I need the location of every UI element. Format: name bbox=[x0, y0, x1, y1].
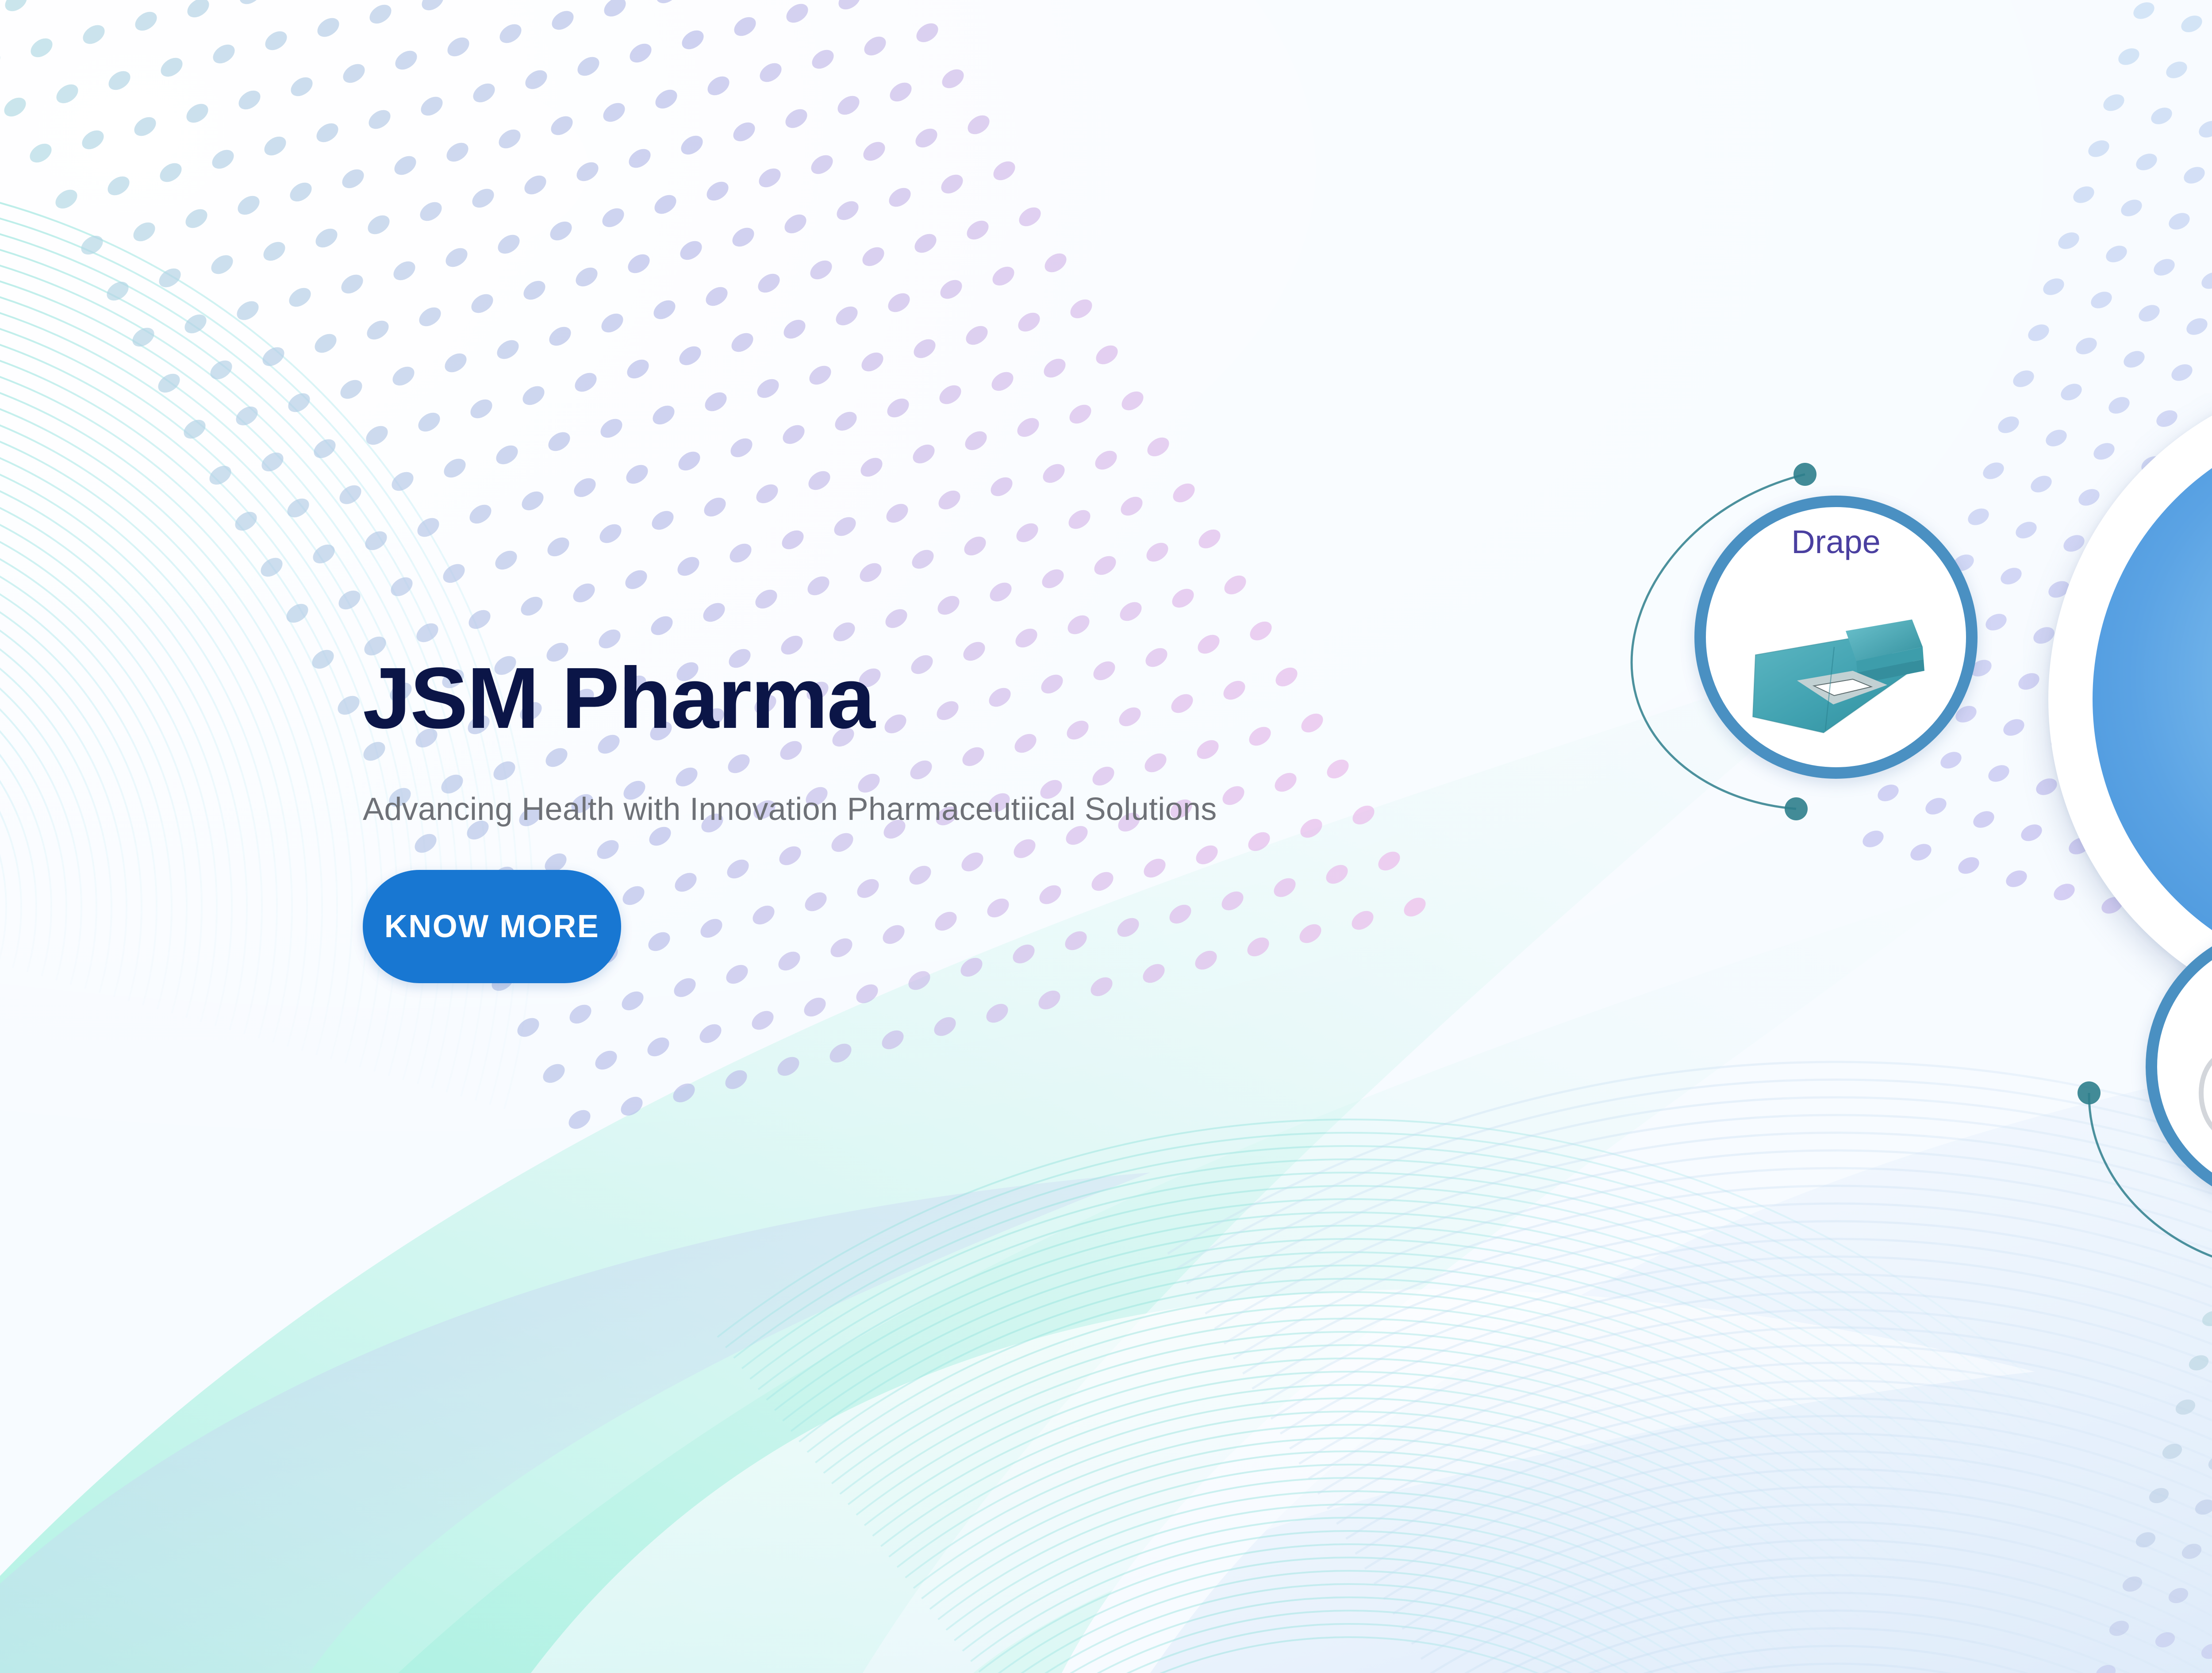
product-label-drape: Drape bbox=[1694, 523, 1978, 561]
hero-subtitle: Advancing Health with Innovation Pharmac… bbox=[363, 791, 1513, 827]
know-more-button[interactable]: KNOW MORE bbox=[363, 870, 621, 983]
product-label-mask: Mask bbox=[2146, 952, 2212, 990]
surgical-mask-image bbox=[2192, 1029, 2212, 1170]
product-circle-drape[interactable]: Drape bbox=[1694, 496, 1978, 779]
hero-banner: JSM Pharma Advancing Health with Innovat… bbox=[0, 0, 2212, 1673]
surgical-drape-image bbox=[1747, 606, 1924, 739]
hub-brand-text: Jsm Pharma bbox=[2093, 459, 2212, 506]
product-circle-cluster: Jsm Pharma bbox=[1659, 310, 2212, 1438]
main-hub-photo-area: Jsm Pharma bbox=[2093, 416, 2212, 982]
surgical-nurse-photo bbox=[2159, 482, 2212, 982]
hero-text-block: JSM Pharma Advancing Health with Innovat… bbox=[363, 655, 1513, 983]
page-title: JSM Pharma bbox=[363, 655, 1513, 742]
